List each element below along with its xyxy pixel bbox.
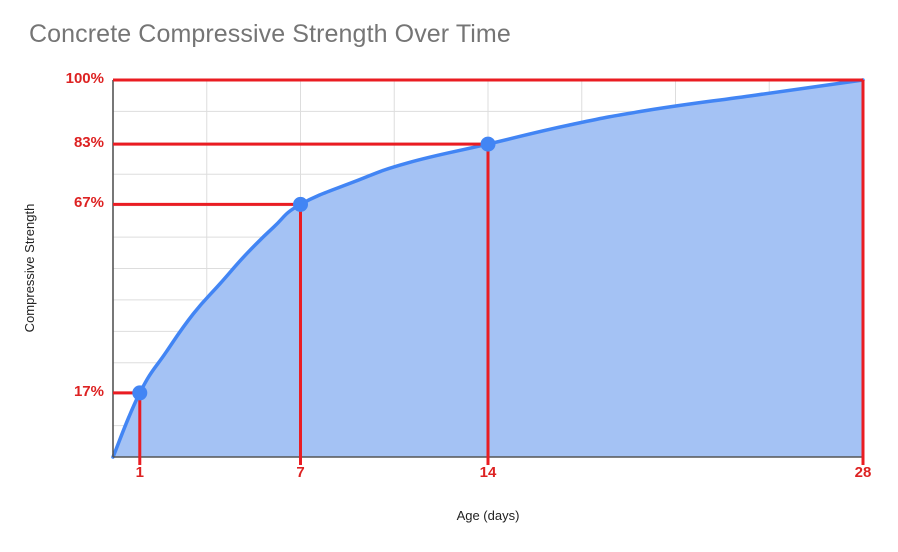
data-point-marker [481,137,496,152]
y-tick-label: 83% [0,134,104,151]
data-point-marker [293,197,308,212]
x-tick-label: 1 [136,464,144,481]
y-tick-label: 100% [0,70,104,87]
y-tick-label: 17% [0,383,104,400]
x-tick-label: 7 [296,464,304,481]
x-tick-label: 14 [480,464,497,481]
data-point-marker [132,385,147,400]
chart-container: Concrete Compressive Strength Over Time … [0,0,898,552]
x-tick-label: 28 [855,464,872,481]
y-tick-label: 67% [0,194,104,211]
